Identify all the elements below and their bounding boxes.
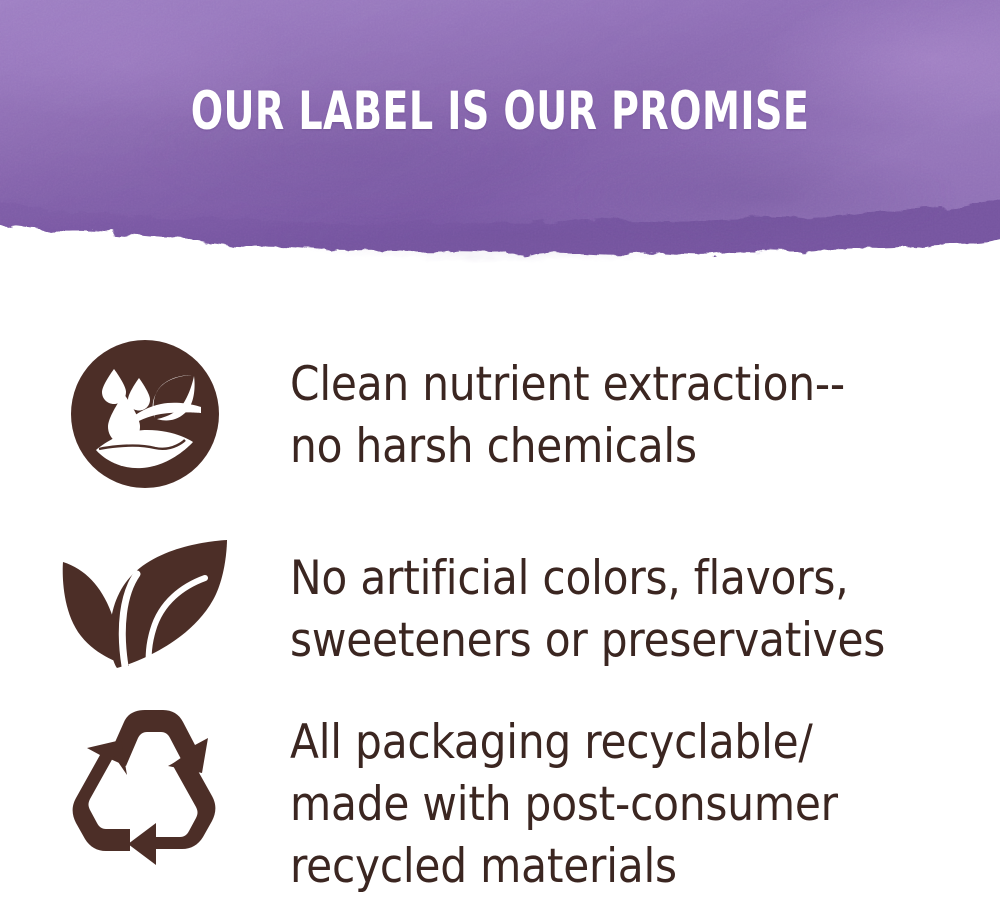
banner-title: OUR LABEL IS OUR PROMISE [100, 84, 900, 140]
promise-list: Clean nutrient extraction-- no harsh che… [0, 320, 1000, 890]
promise-text: Clean nutrient extraction-- no harsh che… [290, 320, 1000, 478]
header-banner: OUR LABEL IS OUR PROMISE [0, 0, 1000, 275]
promise-item: Clean nutrient extraction-- no harsh che… [0, 320, 1000, 520]
promise-icon-slot [0, 520, 290, 670]
promise-item: No artificial colors, flavors, sweetener… [0, 520, 1000, 690]
promise-icon-slot [0, 690, 290, 866]
two-leaves-icon [57, 538, 233, 670]
promise-infographic: OUR LABEL IS OUR PROMISE [0, 0, 1000, 912]
recycle-icon [62, 710, 228, 866]
promise-text: All packaging recyclable/ made with post… [290, 690, 1000, 898]
water-drop-leaf-icon [69, 338, 221, 490]
promise-item: All packaging recyclable/ made with post… [0, 690, 1000, 890]
promise-icon-slot [0, 320, 290, 490]
promise-text: No artificial colors, flavors, sweetener… [290, 520, 1000, 672]
